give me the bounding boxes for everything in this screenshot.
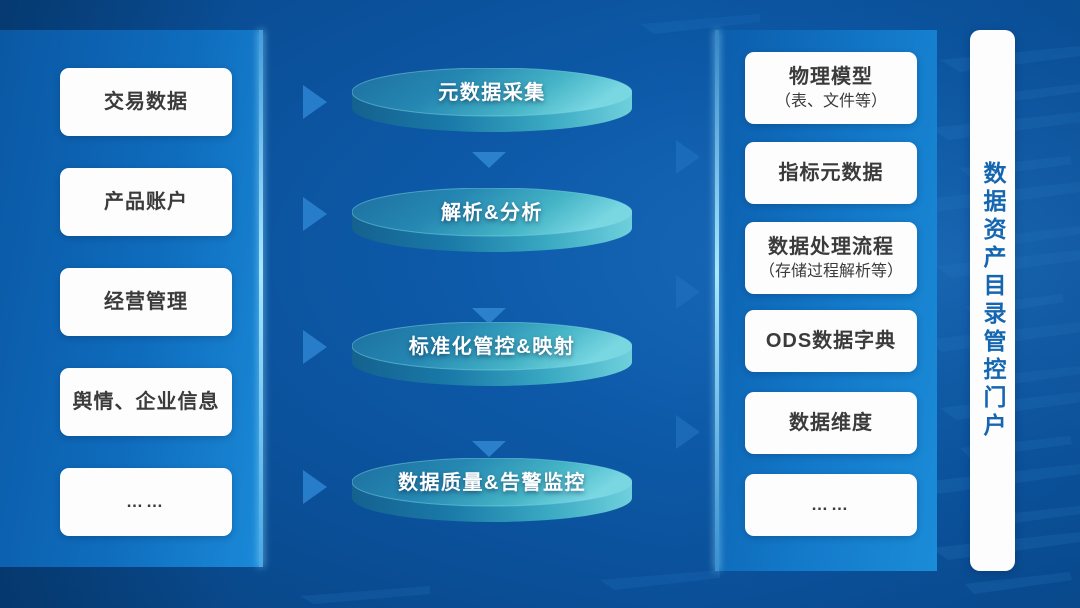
stage-cylinder[interactable]: 标准化管控&映射 xyxy=(352,322,632,390)
list-item[interactable]: 舆情、企业信息 xyxy=(60,368,232,436)
card-title: 交易数据 xyxy=(104,90,188,115)
portal-banner[interactable]: 数据资产目录管控门户 xyxy=(970,30,1015,571)
card-title: 物理模型 xyxy=(789,65,873,90)
flow-arrow-down-icon xyxy=(472,441,506,457)
card-title: 数据处理流程 xyxy=(768,235,894,260)
left-panel-edge-line xyxy=(259,30,263,567)
list-item[interactable]: 交易数据 xyxy=(60,68,232,136)
card-ellipsis: …… xyxy=(126,491,166,512)
portal-label: 数据资产目录管控门户 xyxy=(981,161,1004,441)
flow-arrow-down-icon xyxy=(472,152,506,168)
flow-arrow-right-icon xyxy=(303,197,327,231)
flow-arrow-right-icon xyxy=(303,85,327,119)
card-title: ODS数据字典 xyxy=(766,329,896,354)
list-item[interactable]: ODS数据字典 xyxy=(745,310,917,372)
flow-arrow-right-icon xyxy=(303,470,327,504)
list-item[interactable]: …… xyxy=(745,474,917,536)
flow-arrow-right-icon xyxy=(676,140,700,174)
list-item[interactable]: …… xyxy=(60,468,232,536)
stage-cylinder[interactable]: 元数据采集 xyxy=(352,68,632,136)
list-item[interactable]: 数据处理流程 （存储过程解析等） xyxy=(745,222,917,294)
list-item[interactable]: 指标元数据 xyxy=(745,142,917,204)
card-ellipsis: …… xyxy=(811,494,851,515)
card-subtitle: （表、文件等） xyxy=(775,92,887,112)
list-item[interactable]: 经营管理 xyxy=(60,268,232,336)
card-title: 经营管理 xyxy=(104,290,188,315)
list-item[interactable]: 物理模型 （表、文件等） xyxy=(745,52,917,124)
list-item[interactable]: 产品账户 xyxy=(60,168,232,236)
card-title: 指标元数据 xyxy=(779,161,884,186)
card-title: 数据维度 xyxy=(789,411,873,436)
flow-arrow-right-icon xyxy=(676,275,700,309)
flow-arrow-right-icon xyxy=(676,415,700,449)
list-item[interactable]: 数据维度 xyxy=(745,392,917,454)
stage-cylinder[interactable]: 数据质量&告警监控 xyxy=(352,458,632,526)
flow-arrow-right-icon xyxy=(303,330,327,364)
card-title: 产品账户 xyxy=(104,190,188,215)
right-panel-edge-line xyxy=(715,30,719,571)
diagram-canvas: 交易数据 产品账户 经营管理 舆情、企业信息 …… xyxy=(0,0,1080,608)
card-subtitle: （存储过程解析等） xyxy=(759,262,903,282)
card-title: 舆情、企业信息 xyxy=(73,390,220,415)
stage-cylinder[interactable]: 解析&分析 xyxy=(352,188,632,256)
